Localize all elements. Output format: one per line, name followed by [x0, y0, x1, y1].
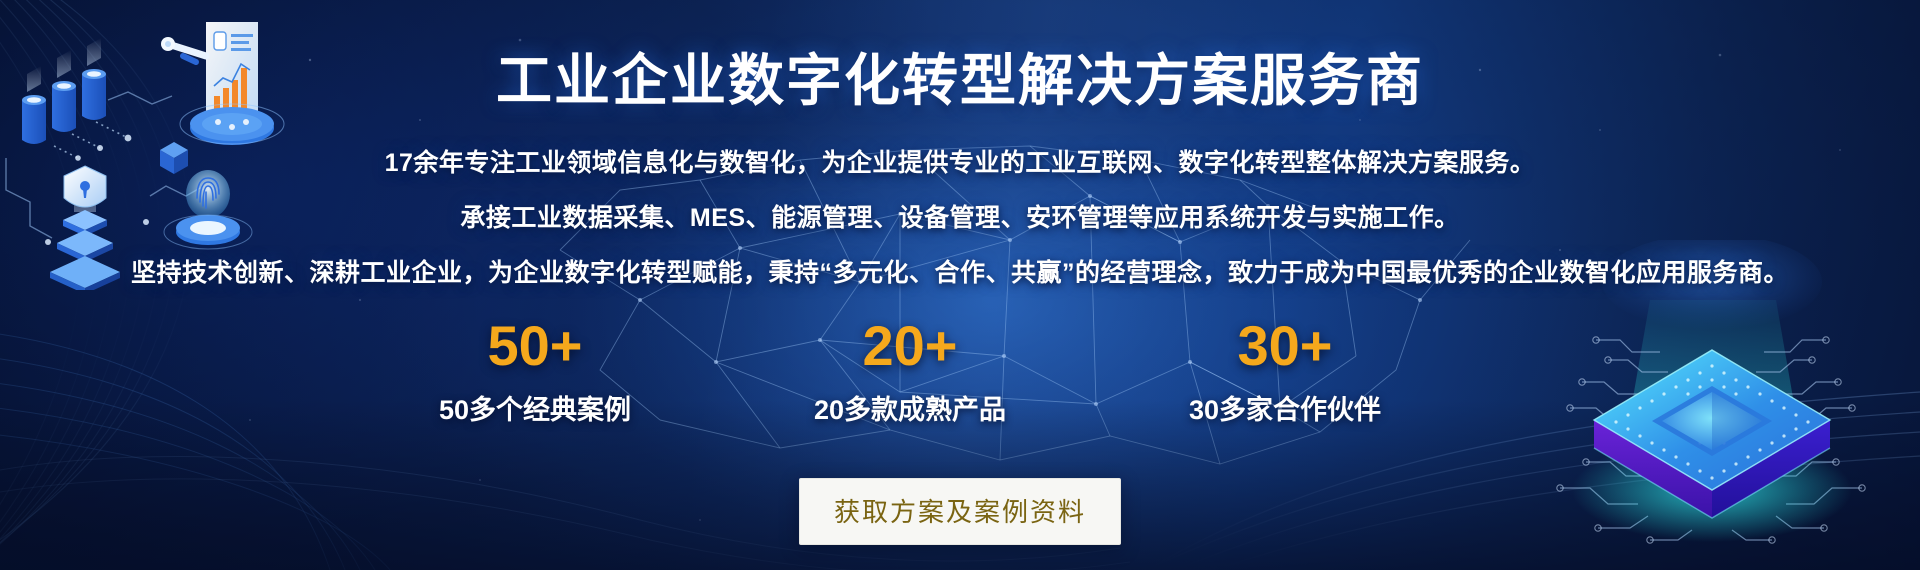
- subtitle-line-1: 17余年专注工业领域信息化与数智化，为企业提供专业的工业互联网、数字化转型整体解…: [0, 143, 1920, 179]
- banner-content: 工业企业数字化转型解决方案服务商 17余年专注工业领域信息化与数智化，为企业提供…: [0, 0, 1920, 570]
- stat-label: 30多家合作伙伴: [1120, 388, 1450, 427]
- get-solution-button[interactable]: 获取方案及案例资料: [799, 478, 1121, 545]
- stat-item-cases: 50+ 50多个经典案例: [370, 318, 700, 427]
- banner-root: 工业企业数字化转型解决方案服务商 17余年专注工业领域信息化与数智化，为企业提供…: [0, 0, 1920, 570]
- stat-number: 30+: [1120, 318, 1450, 374]
- subtitle-line-2: 承接工业数据采集、MES、能源管理、设备管理、安环管理等应用系统开发与实施工作。: [0, 198, 1920, 234]
- stat-number: 20+: [745, 318, 1075, 374]
- stat-label: 50多个经典案例: [370, 388, 700, 427]
- stats-row: 50+ 50多个经典案例 20+ 20多款成熟产品 30+ 30多家合作伙伴: [370, 318, 1450, 427]
- stat-number: 50+: [370, 318, 700, 374]
- subtitle-line-3: 坚持技术创新、深耕工业企业，为企业数字化转型赋能，秉持“多元化、合作、共赢”的经…: [0, 253, 1920, 289]
- page-title: 工业企业数字化转型解决方案服务商: [0, 36, 1920, 117]
- stat-item-products: 20+ 20多款成熟产品: [745, 318, 1075, 427]
- stat-label: 20多款成熟产品: [745, 388, 1075, 427]
- stat-item-partners: 30+ 30多家合作伙伴: [1120, 318, 1450, 427]
